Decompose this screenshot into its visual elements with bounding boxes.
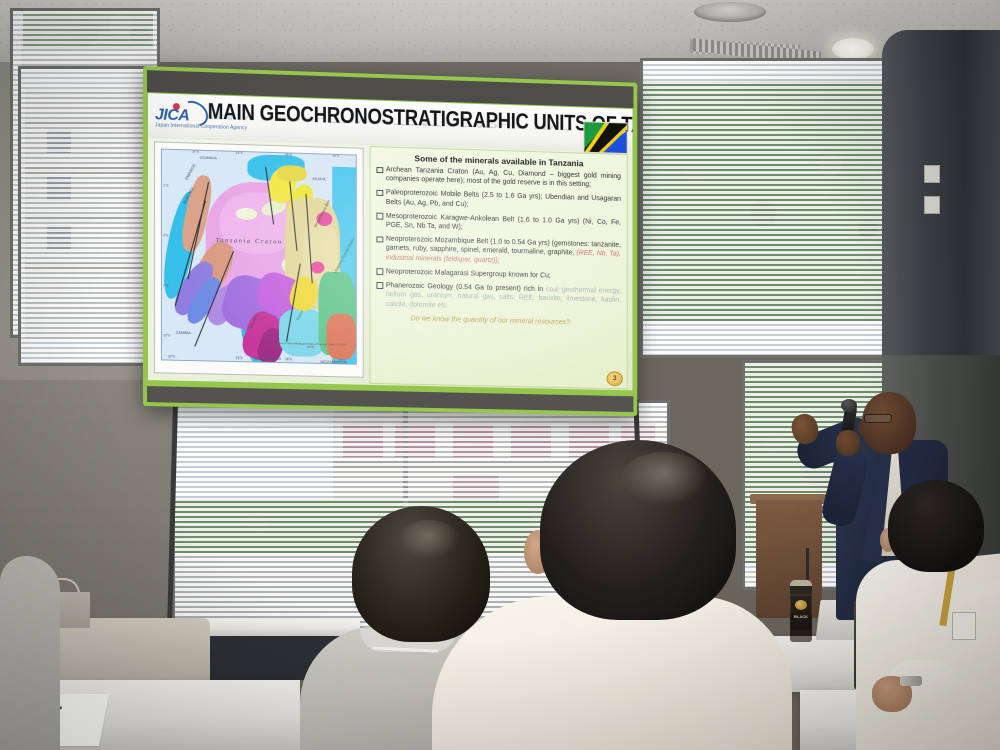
bullet-text-mixed: Neoproterozoic Mozambique Belt (1.0 to 0… xyxy=(386,235,621,269)
map-coord-bottom-2: 33°E xyxy=(236,356,243,360)
bullet-text: Paleoproterozoic Mobile Belts (2.5 to 1.… xyxy=(386,188,621,213)
map-coord-bottom-3: 36°E xyxy=(285,357,292,361)
bottle-label-text: BLACK xyxy=(791,614,811,619)
bullet-item: Phanerozoic Geology (0.54 Ga to present)… xyxy=(376,281,621,315)
bullet-item: Paleoproterozoic Mobile Belts (2.5 to 1.… xyxy=(376,188,621,214)
bullet-text-mixed: Phanerozoic Geology (0.54 Ga to present)… xyxy=(386,281,621,315)
attendee-left-hair-highlight xyxy=(398,520,460,560)
bullet-item: Neoproterozoic Malagarasi Supergroup kno… xyxy=(376,267,621,283)
bullet-square-icon xyxy=(376,190,382,197)
projection-screen[interactable]: JICA Japan International Cooperation Age… xyxy=(143,66,637,416)
bullet-item: Neoproterozoic Mozambique Belt (1.0 to 0… xyxy=(376,234,621,268)
jica-logo-icon: JICA Japan International Cooperation Age… xyxy=(153,97,205,132)
closing-question: Do we know the quantity of our mineral r… xyxy=(376,313,621,328)
microphone-head-icon xyxy=(841,399,857,412)
map-coord-top-4: 39°E xyxy=(332,154,339,158)
bullet-text: Mesoproterozoic Karagwe-Ankolean Belt (1… xyxy=(386,212,621,237)
bullet-item: Archean Tanzania Craton (Au, Ag, Cu, Dia… xyxy=(376,165,621,191)
slide-text-panel: Some of the minerals available in Tanzan… xyxy=(370,146,628,389)
attendee-right-watch-icon xyxy=(900,676,922,686)
presenter-head xyxy=(862,392,916,454)
bullet-text: Archean Tanzania Craton (Au, Ag, Cu, Dia… xyxy=(386,165,621,191)
venetian-blinds[interactable] xyxy=(643,61,887,355)
bullet-square-icon xyxy=(376,268,382,275)
map-zone-delta xyxy=(326,313,355,359)
light-switch-icon[interactable] xyxy=(924,165,940,183)
map-label-zambia: ZAMBIA xyxy=(176,330,191,335)
bullet-square-icon xyxy=(376,282,382,289)
map-coord-left-3: 7°S xyxy=(163,284,168,288)
presenter-glasses-icon xyxy=(864,414,892,423)
window-upper-right xyxy=(640,58,890,358)
venetian-blinds[interactable] xyxy=(21,69,143,363)
right-pillar xyxy=(882,30,1000,370)
map-coord-left-1: 1°S xyxy=(163,184,168,188)
bullet-item: Mesoproterozoic Karagwe-Ankolean Belt (1… xyxy=(376,211,621,236)
slide-number-badge: 3 xyxy=(607,371,623,386)
bullet-square-icon xyxy=(376,213,382,220)
map-coord-top-1: 30°E xyxy=(192,149,199,153)
bullet-square-icon xyxy=(376,236,382,243)
presenter-hand-holding-mic xyxy=(836,430,860,456)
map-scale-label: SCALE 1:8000000 xyxy=(253,356,281,361)
podium xyxy=(756,500,822,618)
geological-map: UGANDA KENYA ZAMBIA MOZAMBIQUE MALAWI RW… xyxy=(154,141,364,377)
attendee-right-body xyxy=(856,560,1000,750)
downlight-icon xyxy=(832,38,874,60)
ceiling-speaker-icon xyxy=(694,2,766,22)
tanzania-flag-icon xyxy=(583,121,627,154)
map-coord-left-2: 4°S xyxy=(163,234,168,238)
presentation-room-photo: JICA Japan International Cooperation Age… xyxy=(0,0,1000,750)
map-coord-left-4: 10°S xyxy=(163,333,170,337)
map-coord-bottom-4: 39°E xyxy=(338,358,345,362)
map-label-rwanda: RWANDA xyxy=(184,163,197,181)
attendee-far-left-shoulder xyxy=(0,556,60,750)
map-coord-top-3: 36°E xyxy=(285,152,292,156)
attendee-right-badge xyxy=(952,612,976,640)
map-label-uganda: UGANDA xyxy=(200,155,217,161)
bullet-square-icon xyxy=(376,167,382,174)
attendee-right-head xyxy=(888,480,984,572)
light-switch-secondary-icon[interactable] xyxy=(924,196,940,214)
attendee-center-hair-highlight xyxy=(620,452,708,506)
projected-slide: JICA Japan International Cooperation Age… xyxy=(148,93,632,390)
map-zone-inlier xyxy=(311,261,325,273)
window-left-middle xyxy=(18,66,146,366)
map-zone-greenstone xyxy=(277,165,307,182)
bullet-text: Neoproterozoic Malagarasi Supergroup kno… xyxy=(386,267,551,281)
map-zone-patch xyxy=(236,208,258,221)
map-coord-bottom-1: 30°E xyxy=(168,355,175,359)
bottle-logo-icon xyxy=(795,600,807,610)
map-canvas: UGANDA KENYA ZAMBIA MOZAMBIQUE MALAWI RW… xyxy=(161,149,357,365)
map-label-kenya: KENYA xyxy=(313,176,326,181)
map-coord-top-2: 33°E xyxy=(236,151,243,155)
